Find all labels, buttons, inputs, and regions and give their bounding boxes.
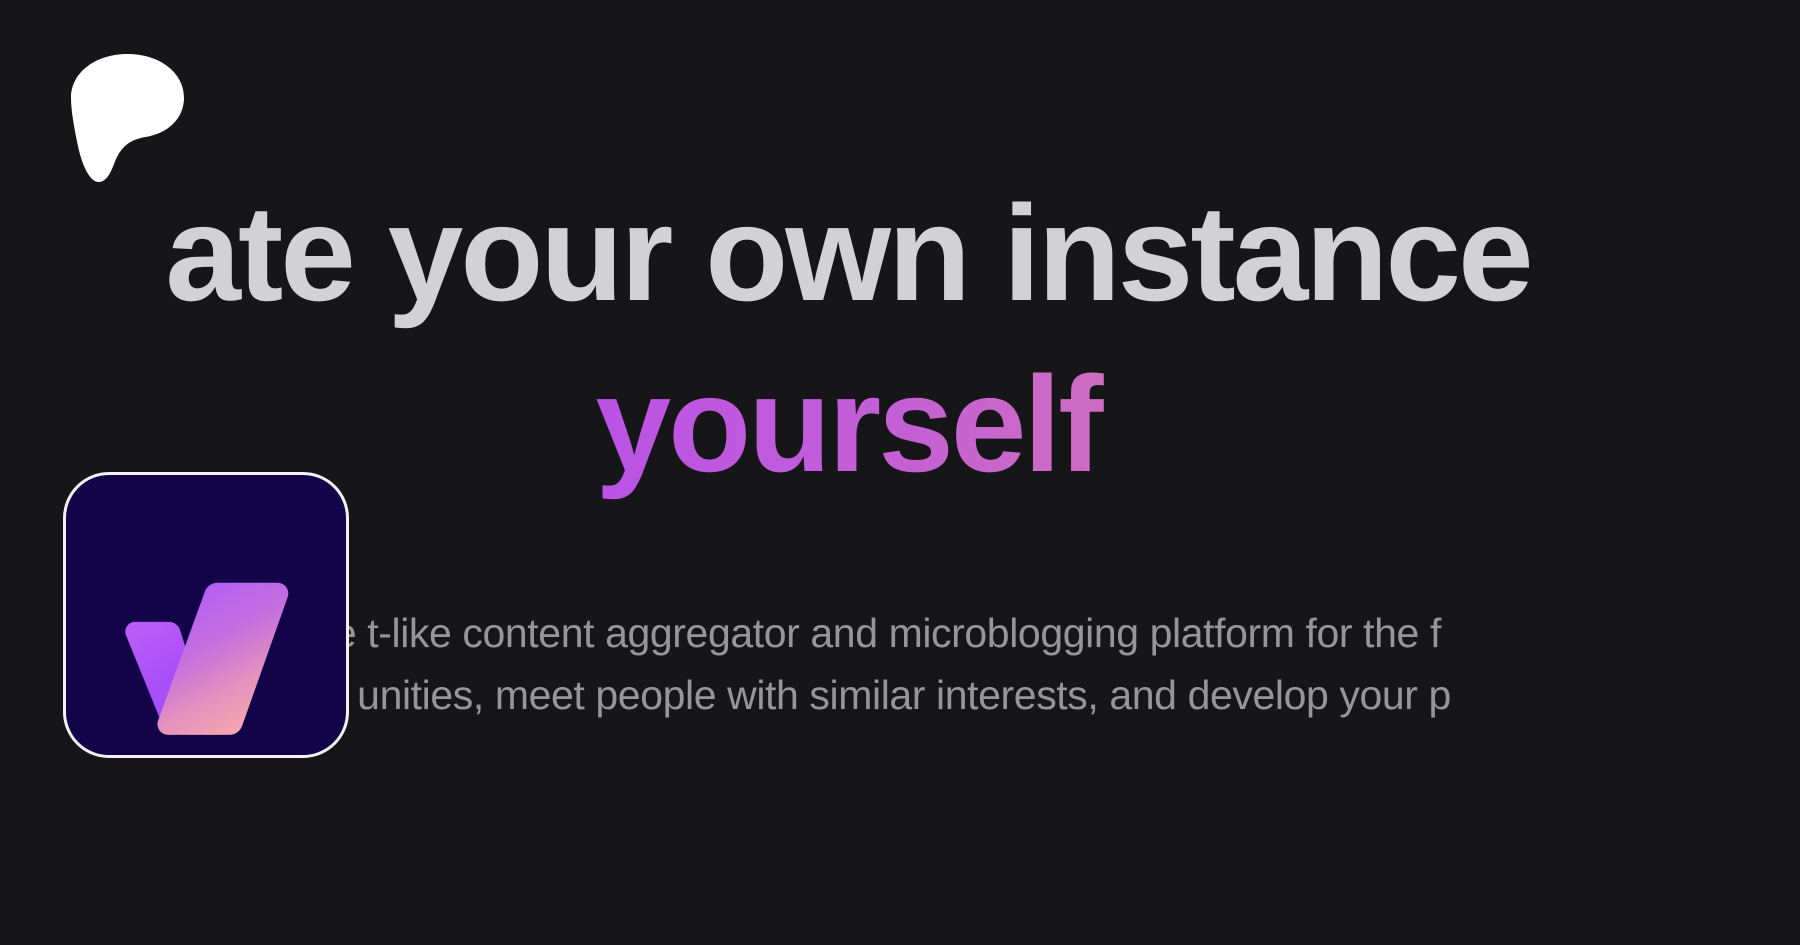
v-mark-icon — [66, 475, 346, 755]
page-canvas: ate your own instance yourself ope t-lik… — [0, 0, 1800, 945]
patreon-p-mark-icon — [68, 52, 186, 184]
brand-logo[interactable] — [68, 52, 186, 184]
headline-line-1: ate your own instance — [0, 168, 1800, 339]
page-title: ate your own instance yourself — [0, 168, 1800, 511]
app-icon-tile[interactable] — [63, 472, 349, 758]
